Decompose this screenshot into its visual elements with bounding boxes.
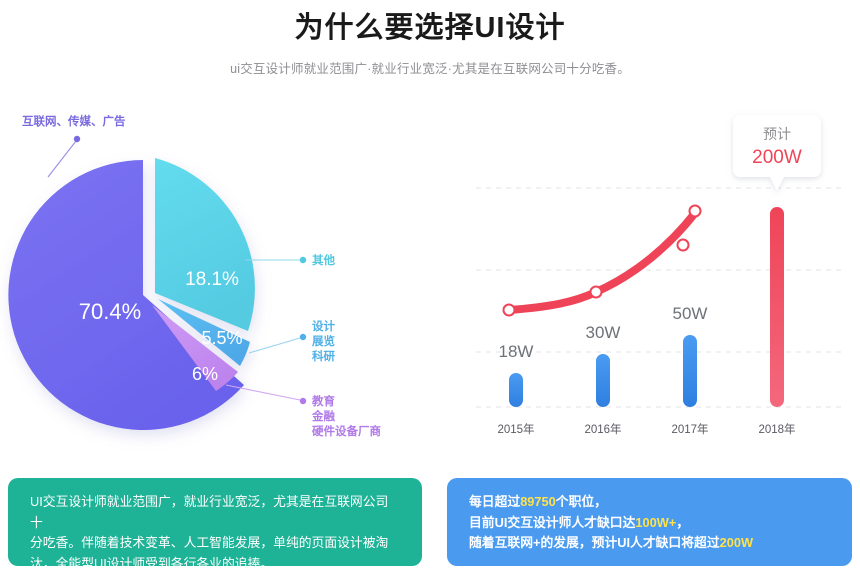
pie-callout-education: 教育 金融 硬件设备厂商	[226, 385, 381, 438]
card-green-line-1: UI交互设计师就业范围广，就业行业宽泛，尤其是在互联网公司十	[30, 492, 400, 533]
pie-label-design-2: 展览	[311, 334, 335, 348]
page-title: 为什么要选择UI设计	[0, 4, 860, 46]
charts-row: 70.4% 18.1% 5.5% 6% 互联网、传媒、广告 其他	[0, 95, 860, 470]
bar-2017[interactable]	[683, 335, 697, 407]
pie-callout-design: 设计 展览 科研	[249, 319, 335, 363]
card-blue-line-1: 每日超过89750个职位，	[469, 492, 830, 513]
trend-points-group	[504, 206, 701, 316]
axis-label-2017: 2017年	[671, 422, 708, 436]
callout-dot-education	[300, 398, 306, 404]
trend-chart-svg: 18W 30W 50W 预计 200W	[430, 95, 860, 470]
tooltip-label: 预计	[763, 126, 791, 142]
bar-2018[interactable]	[770, 207, 784, 407]
blue-l2-highlight: 100W+	[635, 515, 676, 530]
card-green-line-3: 汰，全能型UI设计师受到各行各业的追捧。	[30, 554, 400, 571]
blue-l2-prefix: 目前UI交互设计师人才缺口达	[469, 515, 635, 530]
callout-dot-other	[300, 257, 306, 263]
page-subtitle: ui交互设计师就业范围广·就业行业宽泛·尤其是在互联网公司十分吃香。	[0, 58, 860, 77]
callout-dot-internet	[74, 136, 80, 142]
bar-value-2015: 18W	[499, 342, 534, 361]
pie-value-design: 5.5%	[201, 328, 242, 348]
pie-value-other: 18.1%	[185, 269, 239, 290]
pie-label-education-3: 硬件设备厂商	[312, 424, 381, 438]
callout-line-design	[249, 338, 300, 353]
callout-line-internet	[48, 141, 76, 177]
tooltip-pointer	[770, 177, 784, 191]
trend-line-path	[509, 213, 695, 310]
blue-l3-prefix: 随着互联网+的发展，预计UI人才缺口将超过	[469, 535, 720, 550]
card-demand-stats: 每日超过89750个职位， 目前UI交互设计师人才缺口达100W+， 随着互联网…	[447, 478, 852, 566]
gridlines-group	[476, 188, 846, 407]
blue-l2-suffix: ，	[676, 515, 689, 530]
blue-l1-highlight: 89750	[520, 494, 556, 509]
bar-value-2017: 50W	[673, 304, 708, 323]
infographic-page: 为什么要选择UI设计 ui交互设计师就业范围广·就业行业宽泛·尤其是在互联网公司…	[0, 0, 860, 571]
card-blue-line-2: 目前UI交互设计师人才缺口达100W+，	[469, 513, 830, 534]
pie-label-education-1: 教育	[311, 394, 335, 408]
trend-point-2017[interactable]	[678, 240, 689, 251]
pie-label-design-1: 设计	[312, 319, 335, 333]
trend-point-2015[interactable]	[504, 305, 515, 316]
summary-cards-row: UI交互设计师就业范围广，就业行业宽泛，尤其是在互联网公司十 分吃香。伴随着技术…	[0, 470, 860, 571]
bar-value-2016: 30W	[586, 323, 621, 342]
trend-chart-panel: 18W 30W 50W 预计 200W	[430, 95, 860, 470]
card-blue-line-3: 随着互联网+的发展，预计UI人才缺口将超过200W	[469, 533, 830, 554]
pie-value-internet: 70.4%	[79, 299, 141, 324]
blue-l1-prefix: 每日超过	[469, 494, 520, 509]
bar-2016[interactable]	[596, 354, 610, 407]
blue-l3-highlight: 200W	[720, 535, 753, 550]
pie-label-design-3: 科研	[312, 349, 335, 363]
axis-label-2018: 2018年	[758, 422, 795, 436]
callout-dot-design	[300, 334, 306, 340]
axis-label-2015: 2015年	[497, 422, 534, 436]
callout-line-education	[226, 385, 300, 400]
card-green-line-2: 分吃香。伴随着技术变革、人工智能发展，单纯的页面设计被淘	[30, 533, 400, 554]
pie-label-internet: 互联网、传媒、广告	[22, 114, 126, 128]
axis-label-2016: 2016年	[584, 422, 621, 436]
trend-point-2016[interactable]	[591, 287, 602, 298]
pie-label-education-2: 金融	[311, 409, 335, 423]
pie-chart-panel: 70.4% 18.1% 5.5% 6% 互联网、传媒、广告 其他	[0, 95, 430, 470]
trend-point-2018[interactable]	[690, 206, 701, 217]
pie-label-other: 其他	[312, 253, 335, 267]
pie-slices-group	[8, 158, 255, 430]
pie-chart-svg: 70.4% 18.1% 5.5% 6% 互联网、传媒、广告 其他	[0, 95, 430, 470]
bar-2015[interactable]	[509, 373, 523, 407]
pie-value-education: 6%	[192, 364, 218, 384]
tooltip-value: 200W	[752, 147, 802, 168]
blue-l1-suffix: 个职位，	[556, 494, 607, 509]
pie-callout-other: 其他	[245, 253, 335, 267]
card-career-scope: UI交互设计师就业范围广，就业行业宽泛，尤其是在互联网公司十 分吃香。伴随着技术…	[8, 478, 422, 566]
